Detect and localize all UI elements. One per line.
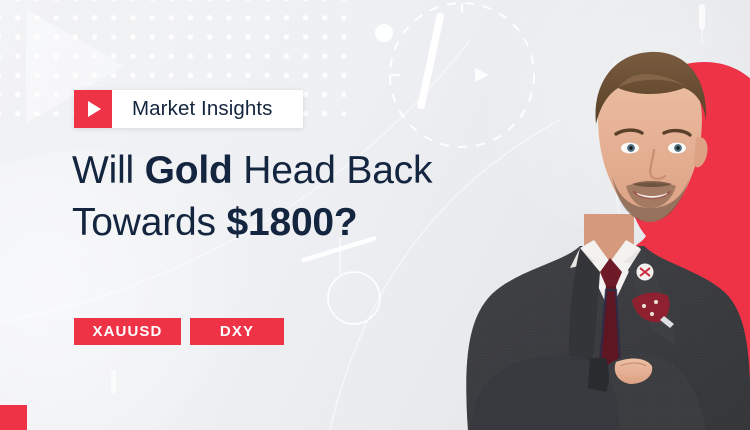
play-button[interactable] <box>74 90 112 128</box>
red-corner-square <box>0 405 27 430</box>
headline-line2-bold: $1800? <box>226 201 357 244</box>
headline-line1-post: Head Back <box>233 149 433 192</box>
page-title: Will Gold Head Back Towards $1800? <box>72 145 502 249</box>
tag-dxy-label: DXY <box>220 323 254 340</box>
instrument-tag-row: XAUUSD DXY <box>74 318 284 345</box>
headline-line1-pre: Will <box>72 149 145 192</box>
tag-dxy[interactable]: DXY <box>190 318 284 345</box>
play-icon <box>88 101 101 117</box>
headline-line-2: Towards $1800? <box>72 197 502 249</box>
badge-label: Market Insights <box>132 97 273 121</box>
market-insights-badge[interactable]: Market Insights <box>74 90 303 128</box>
headline-line1-bold: Gold <box>145 149 233 192</box>
headline-line-1: Will Gold Head Back <box>72 145 502 197</box>
market-insights-banner: Market Insights Will Gold Head Back Towa… <box>0 0 750 430</box>
headline-line2-pre: Towards <box>72 201 226 244</box>
tag-xauusd[interactable]: XAUUSD <box>74 318 181 345</box>
tag-xauusd-label: XAUUSD <box>93 323 163 340</box>
badge-label-container: Market Insights <box>112 90 303 128</box>
